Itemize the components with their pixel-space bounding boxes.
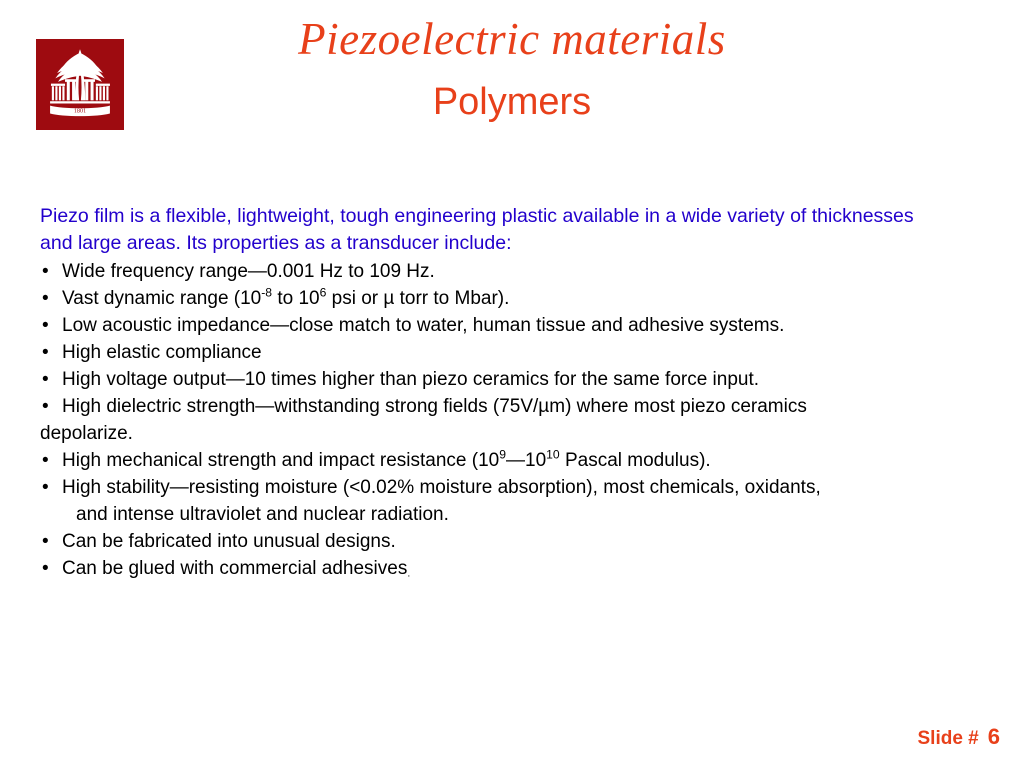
slide-title: Piezoelectric materials <box>0 14 1024 66</box>
bullet-item: • Wide frequency range—0.001 Hz to 109 H… <box>40 258 984 285</box>
bullet-text: High dielectric strength—withstanding st… <box>62 396 807 417</box>
bullet-text: Can be fabricated into unusual designs. <box>62 531 396 552</box>
bullet-text: High stability—resisting moisture (<0.02… <box>62 477 821 498</box>
bullet-text: High elastic compliance <box>62 342 262 363</box>
bullet-item: and intense ultraviolet and nuclear radi… <box>40 501 984 528</box>
bullet-marker-icon: • <box>42 258 49 285</box>
bullet-marker-icon: • <box>42 366 49 393</box>
bullet-item: •Can be fabricated into unusual designs. <box>40 528 984 555</box>
bullet-text: depolarize. <box>40 423 133 444</box>
bullet-text: Wide frequency range—0.001 Hz to 109 Hz. <box>62 261 435 282</box>
bullet-text: High voltage output—10 times higher than… <box>62 369 759 390</box>
bullet-marker-icon: • <box>42 285 49 312</box>
bullet-item: •Can be glued with commercial adhesives. <box>40 555 984 588</box>
bullet-item: •Low acoustic impedance—close match to w… <box>40 312 984 339</box>
feature-bullet-list: • Wide frequency range—0.001 Hz to 109 H… <box>40 258 984 588</box>
bullet-text: Low acoustic impedance—close match to wa… <box>62 315 784 336</box>
bullet-item: •High elastic compliance <box>40 339 984 366</box>
bullet-marker-icon: • <box>42 447 49 474</box>
bullet-marker-icon: • <box>42 393 49 420</box>
superscript: -8 <box>261 286 272 300</box>
bullet-marker-icon: • <box>42 528 49 555</box>
bullet-item: •High mechanical strength and impact res… <box>40 447 984 474</box>
trailing-period: . <box>407 569 410 580</box>
slide-number-label: Slide # <box>918 728 979 749</box>
bullet-marker-icon: • <box>42 474 49 501</box>
slide-body: Piezo film is a flexible, lightweight, t… <box>40 203 984 588</box>
bullet-text: Can be glued with commercial adhesives. <box>62 558 410 579</box>
bullet-text: and intense ultraviolet and nuclear radi… <box>76 504 449 525</box>
bullet-text: High mechanical strength and impact resi… <box>62 450 711 471</box>
slide-number-footer: Slide #6 <box>918 724 1001 750</box>
superscript: 10 <box>546 448 560 462</box>
superscript: 9 <box>499 448 506 462</box>
bullet-item: •High stability—resisting moisture (<0.0… <box>40 474 984 501</box>
bullet-item: depolarize. <box>40 420 984 447</box>
superscript: 6 <box>320 286 327 300</box>
intro-paragraph: Piezo film is a flexible, lightweight, t… <box>40 203 950 257</box>
slide-canvas: 1801 Piezoelectric materials Polymers Pi… <box>0 0 1024 768</box>
bullet-marker-icon: • <box>42 555 49 582</box>
bullet-marker-icon: • <box>42 312 49 339</box>
bullet-text: Vast dynamic range (10-8 to 106 psi or µ… <box>62 288 509 309</box>
bullet-marker-icon: • <box>42 339 49 366</box>
slide-number-value: 6 <box>988 724 1000 749</box>
slide-subtitle: Polymers <box>0 81 1024 125</box>
bullet-item: •High voltage output—10 times higher tha… <box>40 366 984 393</box>
bullet-item: •High dielectric strength—withstanding s… <box>40 393 984 420</box>
bullet-item: •Vast dynamic range (10-8 to 106 psi or … <box>40 285 984 312</box>
